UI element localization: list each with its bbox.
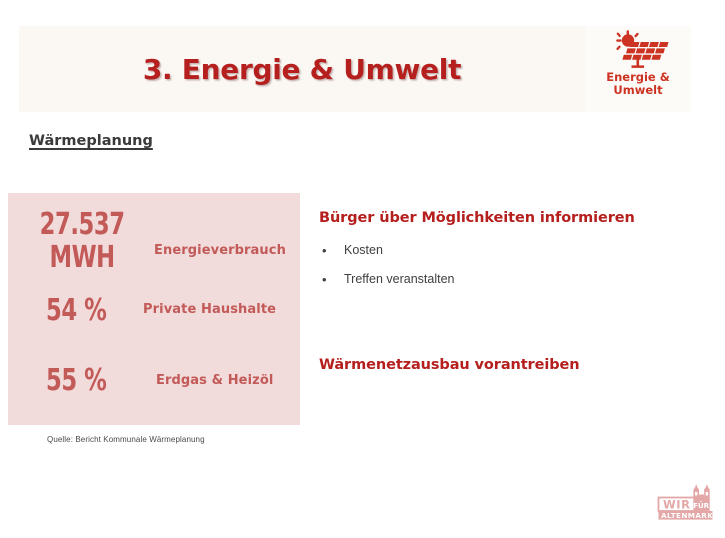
section-subtitle: Wärmeplanung — [29, 133, 153, 149]
bullet-dot-icon: • — [322, 243, 344, 258]
stat-label: Erdgas & Heizöl — [156, 373, 273, 388]
topic-logo-line1: Energie & — [606, 70, 670, 84]
stat-row: 55 % Erdgas & Heizöl — [8, 358, 300, 403]
list-item-label: Treffen veranstalten — [344, 272, 454, 287]
content-heading: Bürger über Möglichkeiten informieren — [319, 210, 635, 226]
page-title: 3. Energie & Umwelt — [19, 26, 585, 112]
list-item: • Treffen veranstalten — [322, 272, 454, 287]
stat-value: 27.537 MWH — [38, 208, 126, 274]
topic-logo: Energie & Umwelt — [585, 26, 691, 112]
stat-label: Energieverbrauch — [154, 243, 286, 258]
topic-logo-text: Energie & Umwelt — [606, 71, 670, 97]
content-heading: Wärmenetzausbau vorantreiben — [319, 357, 579, 373]
svg-text:ALTENMARKT: ALTENMARKT — [661, 511, 719, 520]
svg-text:WIR: WIR — [663, 498, 691, 512]
stat-value: 54 % — [46, 294, 106, 327]
list-item: • Kosten — [322, 243, 383, 258]
stat-row: 54 % Private Haushalte — [8, 288, 300, 333]
stat-row: 27.537 MWH Energieverbrauch — [8, 201, 300, 281]
bullet-dot-icon: • — [322, 272, 344, 287]
stat-value: 55 % — [46, 364, 106, 397]
list-item-label: Kosten — [344, 243, 383, 258]
church-towers-icon: WIR FÜR ALTENMARKT — [655, 483, 719, 529]
footer-logo: WIR FÜR ALTENMARKT — [655, 483, 719, 529]
stats-panel: 27.537 MWH Energieverbrauch 54 % Private… — [8, 193, 300, 425]
stat-label: Private Haushalte — [143, 302, 276, 317]
source-note: Quelle: Bericht Kommunale Wärmeplanung — [47, 435, 205, 444]
topic-logo-line2: Umwelt — [613, 83, 662, 97]
sun-solar-panel-icon — [607, 30, 669, 70]
svg-text:FÜR: FÜR — [693, 501, 709, 510]
